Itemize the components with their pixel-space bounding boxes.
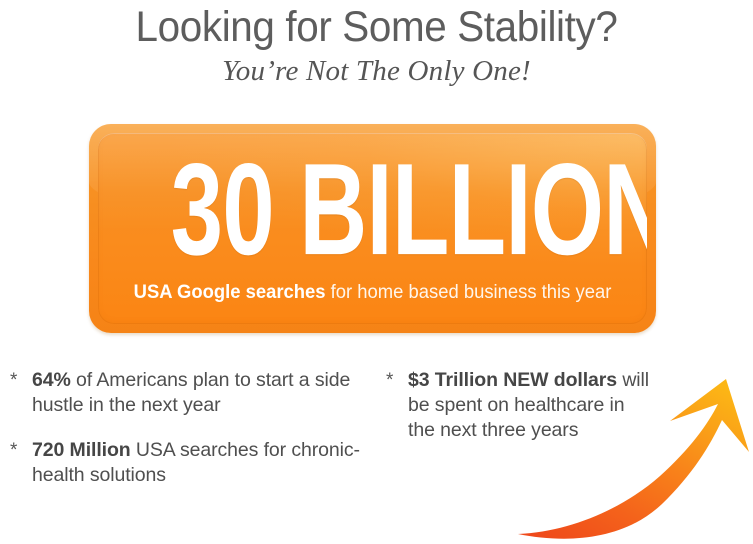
stat-badge-headline-number: 30 BILLION <box>171 145 575 276</box>
stat-badge: 30 BILLION USA Google searches for home … <box>89 124 656 333</box>
page-subtitle: You’re Not The Only One! <box>0 54 753 88</box>
infographic-slide: Looking for Some Stability? You’re Not T… <box>0 0 753 544</box>
stats-column-left: *64% of Americans plan to start a side h… <box>10 368 370 508</box>
page-title: Looking for Some Stability? <box>23 2 731 52</box>
list-item: *64% of Americans plan to start a side h… <box>10 368 370 418</box>
stat-badge-caption: USA Google searches for home based busin… <box>106 281 639 305</box>
list-item-text: of Americans plan to start a side hustle… <box>32 369 350 416</box>
asterisk-bullet-icon: * <box>10 368 17 393</box>
list-item: *720 Million USA searches for chronic-he… <box>10 438 370 488</box>
list-item-highlight: 64% <box>32 369 71 391</box>
stat-badge-caption-light: for home based business this year <box>326 282 612 303</box>
stat-badge-caption-strong: USA Google searches <box>134 282 326 303</box>
growth-arrow-icon <box>512 376 753 544</box>
list-item-highlight: 720 Million <box>32 439 131 461</box>
asterisk-bullet-icon: * <box>10 438 17 463</box>
asterisk-bullet-icon: * <box>386 368 393 393</box>
stat-badge-body: 30 BILLION USA Google searches for home … <box>98 133 647 324</box>
